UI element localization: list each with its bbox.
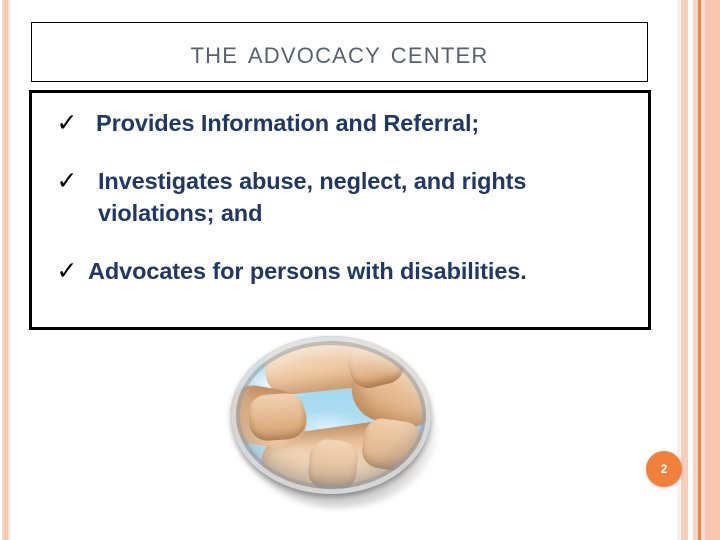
hand-grip-bottom-right [360,416,424,474]
list-item: ✓ Advocates for persons with disabilitie… [42,255,638,287]
list-item: ✓ Investigates abuse, neglect, and right… [42,165,638,229]
check-icon: ✓ [50,255,84,287]
list-item-label: Provides Information and Referral; [84,107,638,139]
list-item-label: Investigates abuse, neglect, and rights … [84,165,568,229]
decor-stripe-right-2 [681,0,688,540]
check-icon: ✓ [50,107,84,139]
slide-canvas: The Advocacy Center ✓ Provides Informati… [0,0,720,540]
decor-stripe-right-7 [705,0,720,540]
slide-number-badge: 2 [646,451,682,487]
check-icon: ✓ [50,165,84,197]
hand-grip-left [247,392,306,442]
photo-oval-frame [231,336,431,494]
slide-content-box: ✓ Provides Information and Referral; ✓ I… [29,90,651,330]
list-item: ✓ Provides Information and Referral; [42,107,638,139]
page-title: The Advocacy Center [191,37,489,68]
decor-stripe-left-3 [8,0,10,540]
list-item-label: Advocates for persons with disabilities. [84,255,638,287]
hands-photo [231,336,437,504]
hand-grip-bottom [307,438,360,493]
slide-title-box: The Advocacy Center [31,22,648,82]
